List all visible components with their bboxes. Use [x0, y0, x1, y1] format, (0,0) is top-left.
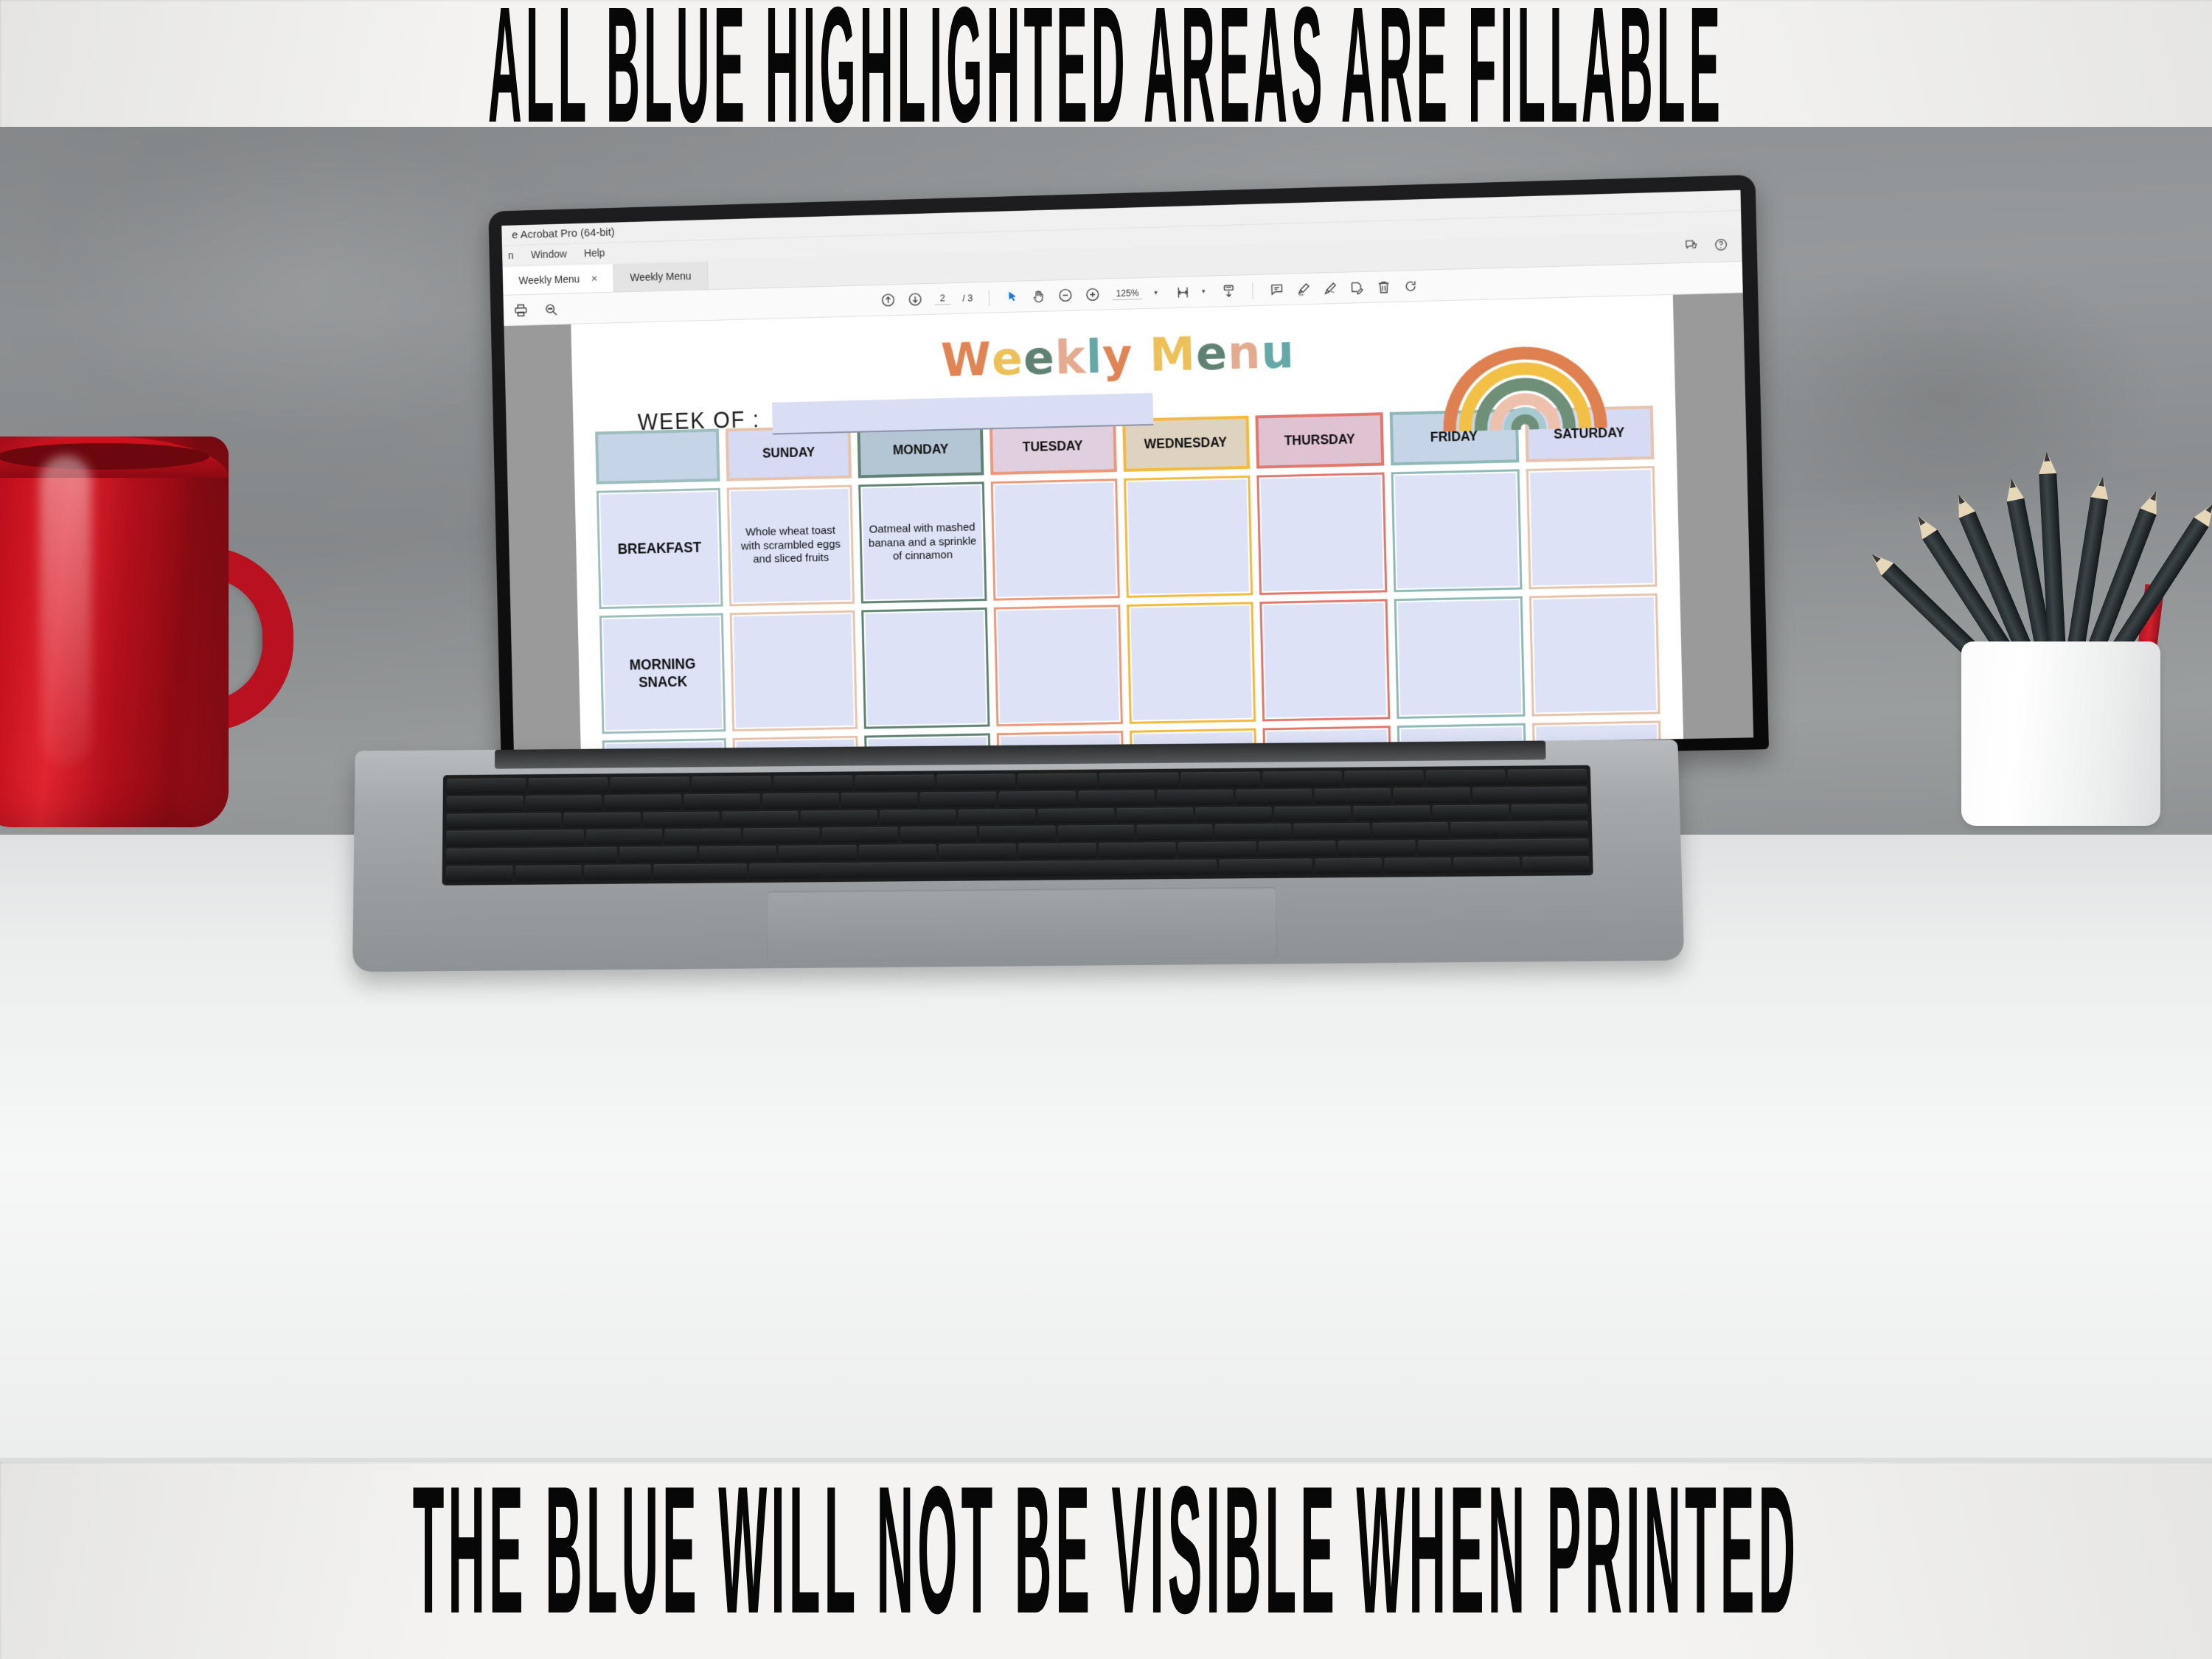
menu-cell[interactable]: Oatmeal with mashed banana and a sprinkl… — [858, 481, 987, 603]
keyboard-key[interactable] — [528, 777, 608, 793]
keyboard-key[interactable] — [1522, 856, 1589, 872]
keyboard-key[interactable] — [1018, 773, 1097, 790]
keyboard-key[interactable] — [999, 790, 1076, 807]
weekly-menu-table: SUNDAYMONDAYTUESDAYWEDNESDAYTHURSDAYFRID… — [595, 406, 1664, 760]
keyboard-key[interactable] — [1344, 771, 1424, 787]
menu-cell[interactable] — [1127, 602, 1256, 724]
page-number-input[interactable]: 2 — [934, 292, 950, 305]
keyboard-key[interactable] — [959, 809, 1035, 825]
keyboard-key[interactable] — [515, 865, 582, 881]
tab-weekly-menu-1[interactable]: Weekly Menu × — [503, 264, 615, 295]
keyboard-key[interactable] — [1472, 786, 1587, 802]
top-banner-text: ALL BLUE HIGHLIGHTED AREAS ARE FILLABLE — [488, 0, 1724, 127]
trackpad[interactable] — [767, 887, 1277, 962]
toolbar-divider — [1253, 282, 1254, 299]
keyboard-key[interactable] — [1099, 842, 1177, 858]
keyboard-key[interactable] — [801, 810, 877, 826]
laptop-lid: e Acrobat Pro (64-bit) n Window Help Wee… — [488, 175, 1769, 772]
keyboard-key[interactable] — [447, 778, 526, 794]
keyboard-key[interactable] — [1258, 841, 1336, 858]
scroll-mode-icon[interactable] — [1221, 283, 1237, 299]
red-coffee-mug — [0, 437, 288, 827]
keyboard-key[interactable] — [1394, 787, 1470, 804]
keyboard-key[interactable] — [1018, 843, 1096, 859]
title-letter-0: W — [940, 333, 992, 388]
rainbow-illustration — [1437, 308, 1612, 431]
keyboard-key[interactable] — [586, 829, 663, 846]
rotate-icon[interactable] — [1403, 278, 1419, 293]
keyboard-key[interactable] — [619, 846, 697, 863]
column-header-thursday: THURSDAY — [1256, 412, 1385, 468]
keyboard-key[interactable] — [743, 828, 820, 844]
tabstrip-right-icons — [1684, 237, 1742, 262]
bottom-banner-text: THE BLUE WILL NOT BE VISIBLE WHEN PRINTE… — [413, 1462, 1799, 1655]
feedback-icon[interactable] — [1684, 238, 1699, 257]
keyboard-key[interactable] — [773, 775, 853, 791]
keyboard-key[interactable] — [1037, 808, 1114, 824]
keyboard-key[interactable] — [920, 791, 997, 807]
next-page-icon[interactable] — [907, 291, 922, 307]
keyboard-key[interactable] — [605, 794, 681, 810]
menu-cell[interactable]: Whole wheat toast with scrambled eggs an… — [727, 485, 855, 607]
column-header-label: TUESDAY — [1023, 438, 1083, 456]
tab-label: Weekly Menu — [630, 270, 691, 283]
keyboard-key[interactable] — [779, 845, 856, 861]
menu-item-help[interactable]: Help — [584, 247, 605, 260]
keyboard-key[interactable] — [610, 776, 689, 793]
menu-item-window[interactable]: Window — [531, 248, 567, 260]
column-header-label: THURSDAY — [1284, 431, 1356, 449]
keyboard-key[interactable] — [584, 864, 651, 880]
keyboard-key[interactable] — [1384, 858, 1451, 874]
title-letter-10: u — [1260, 324, 1295, 379]
keyboard-key[interactable] — [1372, 822, 1449, 838]
print-icon[interactable] — [513, 302, 528, 317]
keyboard-key[interactable] — [1511, 804, 1588, 820]
menu-cell[interactable] — [1394, 597, 1526, 719]
title-letter-4: l — [1085, 330, 1103, 384]
keyboard-key[interactable] — [1078, 790, 1155, 807]
delete-icon[interactable] — [1377, 279, 1392, 294]
column-header-label: SUNDAY — [762, 445, 815, 462]
pdf-page-content: Weekly Menu WEEK OF : — [571, 295, 1684, 759]
mug-interior — [0, 443, 209, 470]
title-letter-8: e — [1195, 326, 1228, 380]
keyboard-key[interactable] — [1220, 859, 1313, 875]
keyboard-key[interactable] — [446, 813, 561, 829]
keyboard-key[interactable] — [1157, 790, 1234, 806]
keyboard-key[interactable] — [1262, 771, 1342, 787]
menu-cell[interactable] — [730, 611, 858, 731]
top-instruction-banner: ALL BLUE HIGHLIGHTED AREAS ARE FILLABLE — [0, 0, 2212, 127]
week-of-label: WEEK OF : — [637, 406, 760, 436]
keyboard-key[interactable] — [1293, 823, 1370, 839]
menu-cell[interactable] — [1529, 594, 1661, 717]
keyboard-key[interactable] — [446, 866, 513, 882]
keyboard-key[interactable] — [446, 830, 584, 846]
menu-cell[interactable] — [1526, 466, 1658, 589]
page-title: Weekly Menu — [940, 324, 1295, 387]
keyboard-key[interactable] — [653, 863, 747, 880]
title-letter-2: e — [1023, 330, 1056, 385]
menu-cell[interactable] — [993, 605, 1122, 726]
row-label-breakfast: BREAKFAST — [596, 488, 723, 609]
column-header-label: SATURDAY — [1554, 425, 1625, 443]
keyboard-key[interactable] — [699, 846, 776, 862]
keyboard-key[interactable] — [1236, 789, 1312, 805]
keyboard-key[interactable] — [900, 827, 977, 843]
chevron-down-icon[interactable]: ▾ — [1202, 288, 1206, 296]
laptop-screen: e Acrobat Pro (64-bit) n Window Help Wee… — [501, 190, 1753, 760]
cup-body — [1961, 641, 2160, 826]
hand-icon[interactable] — [1032, 288, 1046, 304]
fit-page-icon[interactable] — [1175, 285, 1191, 300]
menu-cell-text: Oatmeal with mashed banana and a sprinkl… — [866, 521, 978, 564]
keyboard-key[interactable] — [447, 796, 524, 812]
keyboard-key[interactable] — [1426, 770, 1506, 786]
menu-cell[interactable] — [1257, 473, 1388, 595]
keyboard-key[interactable] — [841, 792, 918, 808]
keyboard-key[interactable] — [1274, 806, 1351, 822]
menu-cell[interactable] — [990, 479, 1119, 601]
menu-cell[interactable] — [1124, 476, 1253, 598]
keyboard-key[interactable] — [1507, 769, 1587, 785]
keyboard-key[interactable] — [936, 773, 1016, 790]
bottom-instruction-banner: THE BLUE WILL NOT BE VISIBLE WHEN PRINTE… — [0, 1462, 2212, 1659]
zoom-in-icon[interactable] — [1085, 287, 1101, 303]
column-header-label: FRIDAY — [1430, 428, 1478, 446]
keyboard-key[interactable] — [749, 860, 1217, 879]
keyboard-key[interactable] — [762, 793, 839, 809]
row-label-text: MORNINGSNACK — [629, 655, 696, 692]
menu-cell[interactable] — [1391, 469, 1523, 592]
keyboard-key[interactable] — [1338, 841, 1416, 857]
menu-cell[interactable] — [861, 608, 990, 729]
tab-label: Weekly Menu — [518, 273, 580, 286]
mug-body — [0, 437, 229, 827]
keyboard-key[interactable] — [822, 827, 899, 844]
page-total-label: / 3 — [962, 292, 973, 303]
sign-icon[interactable] — [1323, 280, 1338, 296]
keyboard-key[interactable] — [1178, 842, 1256, 858]
pdf-viewport[interactable]: Weekly Menu WEEK OF : — [504, 293, 1753, 760]
select-cursor-icon[interactable] — [1006, 290, 1020, 304]
keyboard-key[interactable] — [1057, 825, 1134, 841]
laptop-base — [352, 740, 1684, 972]
keyboard-key[interactable] — [979, 826, 1056, 842]
keyboard-key[interactable] — [859, 844, 936, 860]
keyboard-key[interactable] — [722, 810, 799, 827]
desk-scene-photo: e Acrobat Pro (64-bit) n Window Help Wee… — [0, 127, 2212, 1462]
keyboard-key[interactable] — [446, 847, 617, 864]
title-letter-9: n — [1227, 325, 1262, 380]
keyboard-key[interactable] — [1432, 804, 1509, 821]
chevron-down-icon[interactable]: ▾ — [1154, 289, 1158, 297]
highlight-icon[interactable] — [1296, 281, 1312, 296]
close-icon[interactable]: × — [591, 272, 598, 285]
keyboard-key[interactable] — [1215, 824, 1292, 840]
keyboard-key[interactable] — [664, 829, 741, 845]
keyboard-key[interactable] — [1453, 857, 1520, 873]
column-header-label: MONDAY — [892, 442, 948, 459]
keyboard-key[interactable] — [526, 795, 602, 811]
mug-highlight — [40, 456, 91, 765]
pencil-cup — [1942, 472, 2185, 826]
keyboard-key[interactable] — [880, 810, 956, 826]
keyboard-key[interactable] — [1315, 858, 1382, 874]
menu-item-0[interactable]: n — [508, 249, 514, 261]
keyboard-key[interactable] — [1181, 772, 1261, 788]
keyboard-key[interactable] — [1450, 821, 1588, 838]
previous-page-icon[interactable] — [880, 292, 896, 307]
keyboard-key[interactable] — [939, 844, 1016, 860]
keyboard-key[interactable] — [1315, 788, 1391, 804]
keyboard-key[interactable] — [564, 812, 641, 828]
rainbow-svg — [1437, 308, 1612, 431]
comment-icon[interactable] — [1270, 282, 1285, 297]
edit-pdf-icon[interactable] — [1349, 279, 1365, 295]
search-icon[interactable] — [543, 302, 558, 316]
title-letter-1: e — [991, 331, 1024, 386]
title-letter-5: y — [1102, 329, 1133, 383]
row-label-text: BREAKFAST — [618, 539, 702, 558]
keyboard-key[interactable] — [1116, 807, 1193, 824]
zoom-level-value[interactable]: 125% — [1113, 288, 1143, 300]
window-title: e Acrobat Pro (64-bit) — [512, 226, 615, 242]
keyboard-key[interactable] — [1136, 824, 1213, 841]
menu-cell[interactable] — [1260, 599, 1391, 721]
keyboard-key[interactable] — [1418, 839, 1589, 856]
document-header: Weekly Menu WEEK OF : — [593, 312, 1653, 428]
zoom-out-icon[interactable] — [1058, 288, 1074, 304]
menu-cell-text: Whole wheat toast with scrambled eggs an… — [735, 524, 846, 567]
title-letter-6 — [1133, 328, 1150, 383]
keyboard-key[interactable] — [855, 774, 934, 790]
keyboard-key[interactable] — [1195, 807, 1272, 823]
keyboard[interactable] — [442, 765, 1593, 886]
help-icon[interactable] — [1714, 237, 1728, 256]
toolbar-divider — [989, 289, 990, 305]
keyboard-key[interactable] — [692, 776, 771, 792]
title-letter-7: M — [1149, 327, 1196, 382]
tab-weekly-menu-2[interactable]: Weekly Menu — [613, 262, 708, 292]
title-letter-3: k — [1054, 330, 1087, 384]
row-label-morning-snack: MORNINGSNACK — [599, 613, 726, 734]
keyboard-key[interactable] — [1353, 805, 1430, 821]
keyboard-key[interactable] — [643, 811, 720, 827]
laptop: e Acrobat Pro (64-bit) n Window Help Wee… — [354, 193, 1681, 975]
keyboard-key[interactable] — [1099, 773, 1179, 789]
keyboard-key[interactable] — [684, 793, 760, 810]
column-header-label: WEDNESDAY — [1144, 434, 1228, 453]
